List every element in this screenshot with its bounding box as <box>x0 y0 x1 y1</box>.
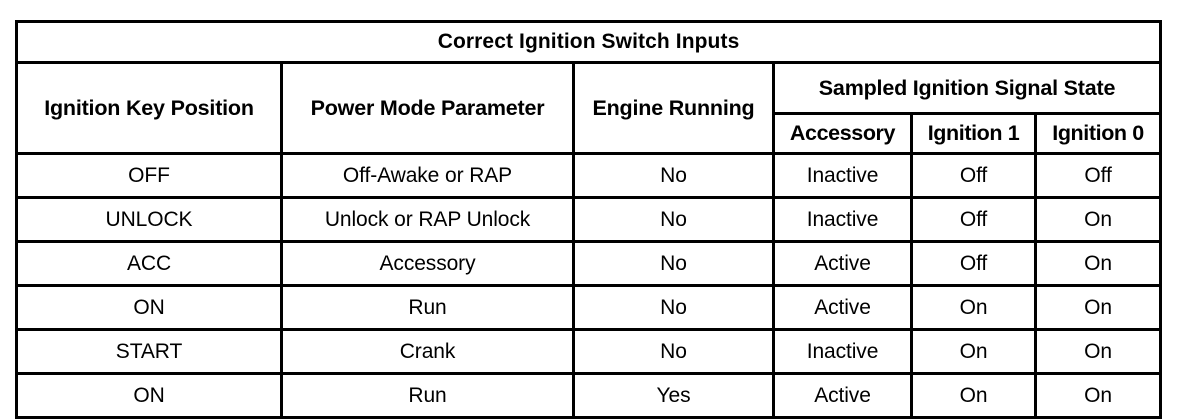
table-header-row-primary: Ignition Key Position Power Mode Paramet… <box>17 63 1161 114</box>
cell-accessory: Active <box>774 286 912 330</box>
cell-ignition-1: Off <box>912 242 1036 286</box>
cell-power-mode-parameter: Crank <box>282 330 574 374</box>
cell-ignition-0: On <box>1036 242 1161 286</box>
cell-ignition-key-position: ON <box>17 374 282 418</box>
table-row: ON Run No Active On On <box>17 286 1161 330</box>
cell-power-mode-parameter: Run <box>282 286 574 330</box>
table-row: ACC Accessory No Active Off On <box>17 242 1161 286</box>
cell-ignition-key-position: UNLOCK <box>17 198 282 242</box>
table-row: ON Run Yes Active On On <box>17 374 1161 418</box>
cell-ignition-0: On <box>1036 286 1161 330</box>
cell-ignition-key-position: OFF <box>17 154 282 198</box>
cell-ignition-1: On <box>912 374 1036 418</box>
column-header-ignition-key-position: Ignition Key Position <box>17 63 282 154</box>
table-title: Correct Ignition Switch Inputs <box>17 22 1161 63</box>
cell-accessory: Active <box>774 374 912 418</box>
cell-engine-running: No <box>574 154 774 198</box>
cell-ignition-0: Off <box>1036 154 1161 198</box>
column-header-ignition-1: Ignition 1 <box>912 114 1036 154</box>
cell-engine-running: No <box>574 198 774 242</box>
cell-power-mode-parameter: Run <box>282 374 574 418</box>
cell-accessory: Inactive <box>774 198 912 242</box>
cell-ignition-0: On <box>1036 374 1161 418</box>
table-row: OFF Off-Awake or RAP No Inactive Off Off <box>17 154 1161 198</box>
correct-ignition-switch-inputs-table: Correct Ignition Switch Inputs Ignition … <box>15 20 1162 419</box>
cell-ignition-key-position: ON <box>17 286 282 330</box>
column-header-power-mode-parameter: Power Mode Parameter <box>282 63 574 154</box>
table-title-row: Correct Ignition Switch Inputs <box>17 22 1161 63</box>
cell-ignition-1: Off <box>912 198 1036 242</box>
cell-engine-running: No <box>574 286 774 330</box>
cell-ignition-0: On <box>1036 330 1161 374</box>
cell-engine-running: No <box>574 330 774 374</box>
cell-ignition-1: On <box>912 330 1036 374</box>
cell-power-mode-parameter: Unlock or RAP Unlock <box>282 198 574 242</box>
cell-engine-running: No <box>574 242 774 286</box>
column-header-accessory: Accessory <box>774 114 912 154</box>
table-row: START Crank No Inactive On On <box>17 330 1161 374</box>
ignition-table-container: Correct Ignition Switch Inputs Ignition … <box>15 20 1159 396</box>
column-group-header-sampled-ignition-signal-state: Sampled Ignition Signal State <box>774 63 1161 114</box>
cell-ignition-0: On <box>1036 198 1161 242</box>
cell-ignition-key-position: START <box>17 330 282 374</box>
cell-accessory: Inactive <box>774 330 912 374</box>
cell-accessory: Active <box>774 242 912 286</box>
cell-ignition-1: On <box>912 286 1036 330</box>
cell-power-mode-parameter: Accessory <box>282 242 574 286</box>
cell-ignition-1: Off <box>912 154 1036 198</box>
cell-ignition-key-position: ACC <box>17 242 282 286</box>
cell-engine-running: Yes <box>574 374 774 418</box>
cell-power-mode-parameter: Off-Awake or RAP <box>282 154 574 198</box>
column-header-ignition-0: Ignition 0 <box>1036 114 1161 154</box>
column-header-engine-running: Engine Running <box>574 63 774 154</box>
cell-accessory: Inactive <box>774 154 912 198</box>
table-row: UNLOCK Unlock or RAP Unlock No Inactive … <box>17 198 1161 242</box>
